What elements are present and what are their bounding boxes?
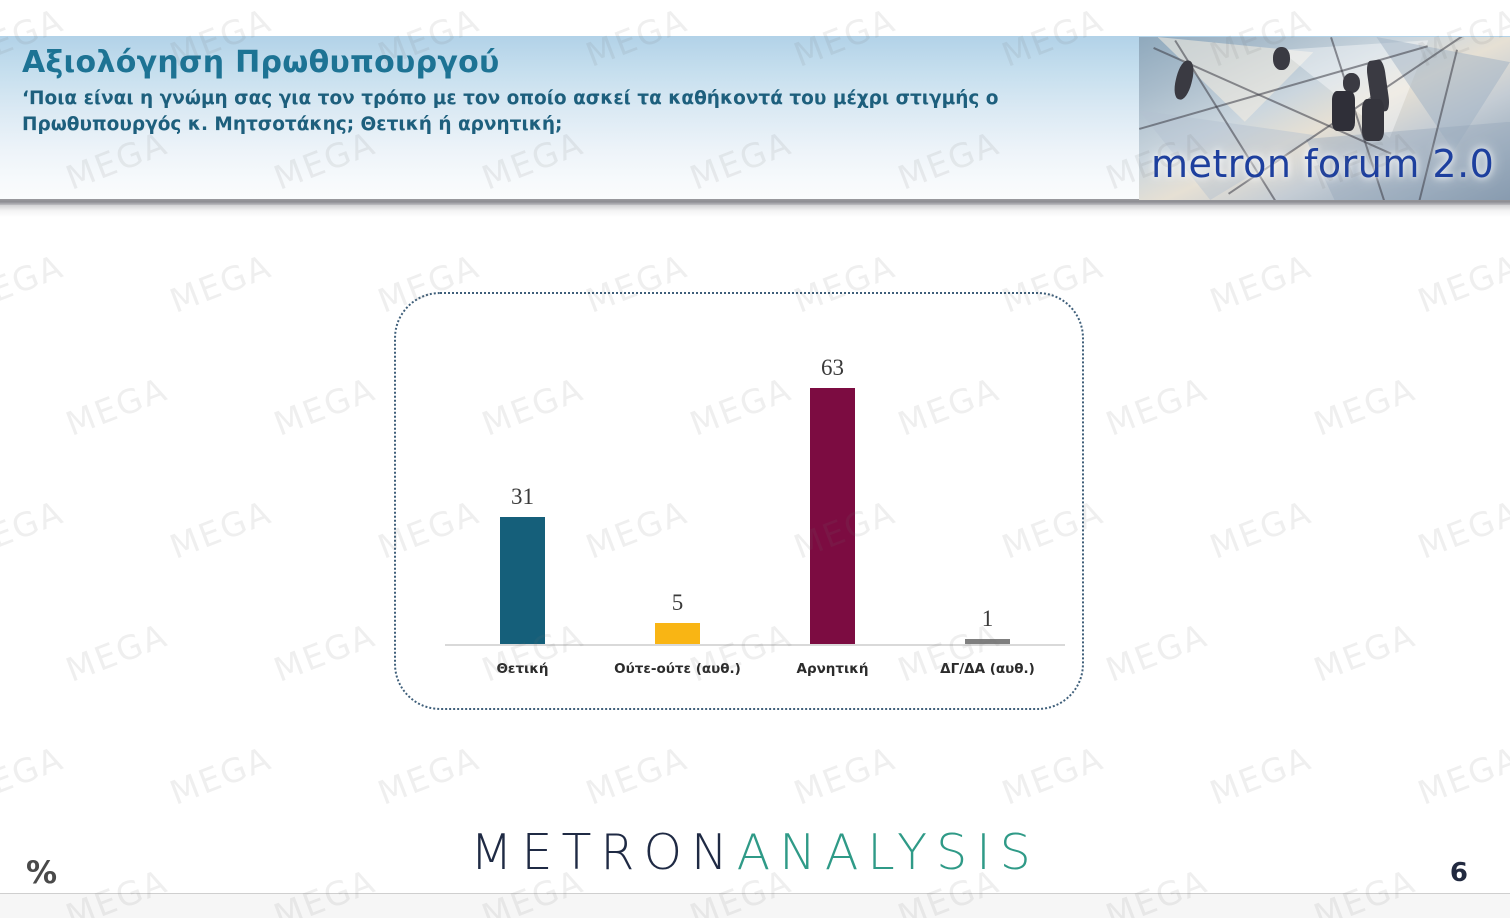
watermark-text: MEGA [1309,615,1421,689]
watermark-text: MEGA [997,738,1109,812]
watermark-text: MEGA [165,246,277,320]
page-title: Αξιολόγηση Πρωθυπουργού [22,46,1102,81]
watermark-text: MEGA [789,738,901,812]
page-subtitle: ‘Ποια είναι η γνώμη σας για τον τρόπο με… [22,86,1007,139]
bar-rect[interactable] [655,623,700,644]
metron-analysis-logo: METRONANALYSIS [0,828,1510,877]
bar-value-label: 1 [982,607,994,630]
bar-group[interactable]: 63 [755,356,910,644]
brand-metron-text: METRON [470,824,736,881]
bar-rect[interactable] [965,639,1010,644]
watermark-text: MEGA [1309,369,1421,443]
category-label-oute-oute: Ούτε-ούτε (αυθ.) [600,661,755,677]
forum-logo-wordmark: metron forum 2.0 [1151,142,1494,186]
watermark-text: MEGA [0,246,69,320]
header-text-block: Αξιολόγηση Πρωθυπουργού ‘Ποια είναι η γν… [22,46,1102,138]
watermark-text: MEGA [373,738,485,812]
watermark-text: MEGA [1413,492,1510,566]
bar-group[interactable]: 5 [600,356,755,644]
category-label-dg-da: ΔΓ/ΔΑ (αυθ.) [910,661,1065,677]
watermark-text: MEGA [61,615,173,689]
watermark-text: MEGA [61,369,173,443]
watermark-text: MEGA [269,369,381,443]
metron-forum-logo: metron forum 2.0 [1139,37,1510,200]
watermark-text: MEGA [1101,369,1213,443]
watermark-text: MEGA [1413,246,1510,320]
watermark-text: MEGA [165,492,277,566]
slide: Αξιολόγηση Πρωθυπουργού ‘Ποια είναι η γν… [0,0,1510,918]
percent-symbol: % [26,855,57,891]
chart-axis-line [445,644,1065,646]
photo-figure [1362,99,1384,141]
category-label-arnitiki: Αρνητική [755,661,910,677]
chart-plot-area: 31 5 63 1 [445,316,1065,646]
bar-value-label: 63 [821,356,844,379]
watermark-text: MEGA [581,738,693,812]
header-divider-shadow [0,205,1510,217]
bar-rect[interactable] [500,517,545,644]
watermark-text: MEGA [1413,738,1510,812]
watermark-text: MEGA [269,615,381,689]
photo-figure [1273,47,1290,70]
bar-value-label: 31 [511,485,534,508]
watermark-text: MEGA [1205,246,1317,320]
watermark-text: MEGA [0,738,69,812]
watermark-text: MEGA [1205,738,1317,812]
forum-logo-photo: metron forum 2.0 [1139,37,1510,200]
photo-figure [1343,73,1360,93]
bar-group[interactable]: 31 [445,356,600,644]
chart-container: 31 5 63 1 Θετική Ούτε-ούτε (α [394,292,1084,710]
bar-value-label: 5 [672,591,684,614]
category-label-thetiki: Θετική [445,661,600,677]
brand-analysis-text: ANALYSIS [737,824,1040,881]
bottom-margin-area [0,894,1510,918]
bar-rect[interactable] [810,388,855,644]
chart-bars: 31 5 63 1 [445,356,1065,644]
photo-figure [1332,91,1355,131]
watermark-text: MEGA [1205,492,1317,566]
watermark-text: MEGA [165,738,277,812]
chart-category-labels: Θετική Ούτε-ούτε (αυθ.) Αρνητική ΔΓ/ΔΑ (… [445,661,1065,677]
bar-group[interactable]: 1 [910,356,1065,644]
watermark-text: MEGA [1101,615,1213,689]
watermark-text: MEGA [0,492,69,566]
page-number: 6 [1450,858,1468,888]
